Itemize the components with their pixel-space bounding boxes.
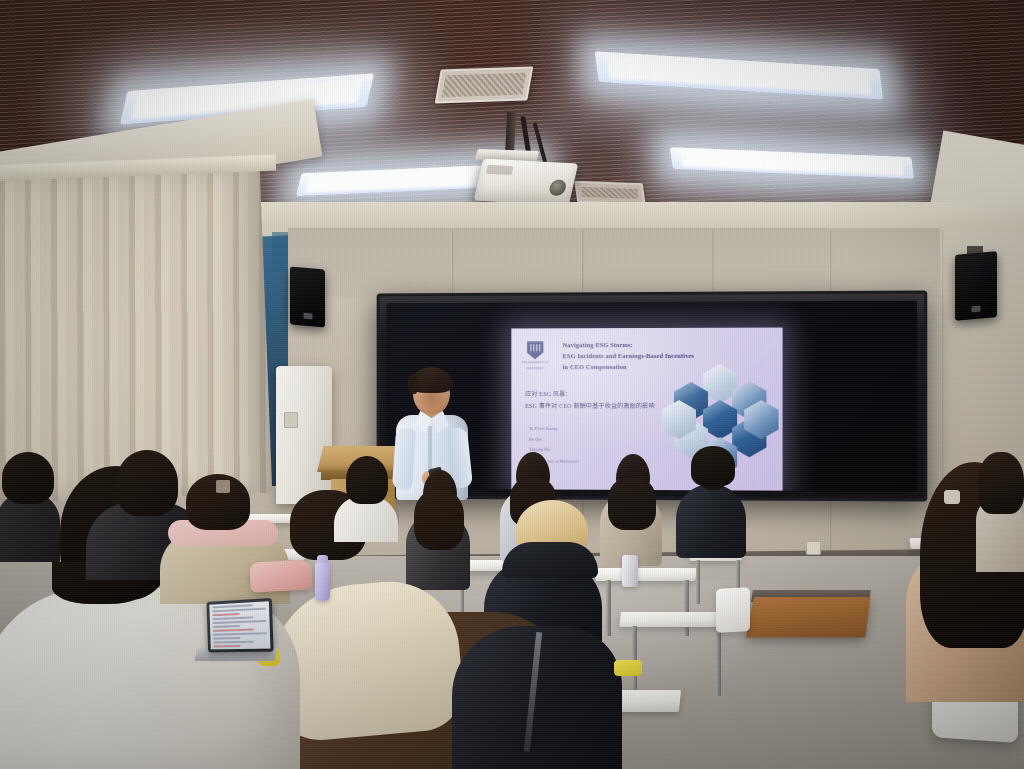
presenter-face-shading — [417, 392, 445, 408]
student-hair — [608, 478, 656, 530]
student-far-left-edge — [0, 452, 60, 562]
slide-title-line-2: ESG Incidents and Earnings-Based Incenti… — [563, 351, 771, 363]
student-far-right-edge — [976, 452, 1024, 572]
wall-blue-accent-top — [272, 232, 288, 272]
classroom-photo: THE UNIVERSITY OF MELBOURNE Navigating E… — [0, 0, 1024, 769]
laptop-text-line — [213, 645, 240, 647]
student-back-black-puffer — [676, 448, 746, 558]
desk-leg — [632, 626, 637, 690]
laptop-text-line — [213, 625, 240, 628]
presenter-hair-side — [408, 374, 418, 394]
crest-shield-icon — [527, 341, 544, 359]
laptop-screen-content — [209, 601, 270, 649]
laptop-text-line — [213, 632, 267, 636]
chair-back-right — [716, 587, 750, 633]
laptop-text-line — [213, 620, 267, 624]
wall-speaker-right — [955, 251, 997, 321]
hair-accessory-icon — [944, 490, 960, 504]
crest-line-1: THE UNIVERSITY OF — [522, 361, 549, 365]
desk-leg — [696, 560, 700, 604]
ceiling-projector — [474, 159, 579, 206]
desk-right-front — [619, 612, 731, 627]
purple-water-bottle — [315, 561, 330, 601]
purple-water-bottle-cap — [317, 555, 328, 563]
laptop-text-line — [212, 616, 253, 620]
fluorescent-panel-4-icon — [670, 147, 915, 179]
ceiling-ac-vent-1-icon — [435, 66, 534, 103]
student-row2-white-top — [334, 456, 398, 542]
student-hair — [978, 452, 1024, 514]
hex-tile-4 — [703, 400, 737, 439]
student-hair — [414, 490, 464, 550]
yellow-cup-center — [614, 660, 642, 676]
wall-speaker-left — [290, 266, 325, 327]
white-water-bottle — [622, 555, 638, 587]
pink-handbag — [249, 559, 312, 592]
wooden-stage-step — [746, 597, 871, 637]
laptop-text-line — [212, 613, 239, 616]
laptop-text-line — [214, 649, 255, 650]
student-hair — [2, 452, 54, 504]
hex-tile-1 — [703, 364, 737, 403]
fluorescent-panel-3-icon — [595, 51, 884, 100]
laptop-text-line — [212, 608, 266, 613]
wall-power-outlet[interactable] — [806, 541, 821, 555]
crest-line-2: MELBOURNE — [527, 367, 544, 371]
laptop-text-line — [213, 637, 240, 640]
desk-center-right — [595, 568, 697, 581]
hair-clip-icon — [216, 480, 230, 493]
student-back-beige-knit — [600, 454, 662, 566]
desk-leg — [716, 626, 721, 696]
student-mid-dark-coat — [452, 626, 622, 769]
air-conditioner-grill — [282, 372, 324, 398]
student-body — [676, 484, 746, 558]
open-laptop[interactable] — [207, 598, 274, 652]
laptop-text-line — [213, 641, 254, 644]
student-hair — [691, 446, 735, 486]
laptop-text-line — [213, 628, 254, 631]
university-crest-icon: THE UNIVERSITY OF MELBOURNE — [524, 341, 546, 371]
slide-title-line-1: Navigating ESG Storms: — [563, 340, 771, 352]
student-hair — [346, 456, 388, 504]
desk-leg — [684, 580, 689, 636]
slide-author-1: Yu Flora Kuang — [529, 424, 558, 435]
slide-author-2: Bo Qin — [529, 434, 558, 445]
air-conditioner-control-panel[interactable] — [284, 412, 298, 428]
